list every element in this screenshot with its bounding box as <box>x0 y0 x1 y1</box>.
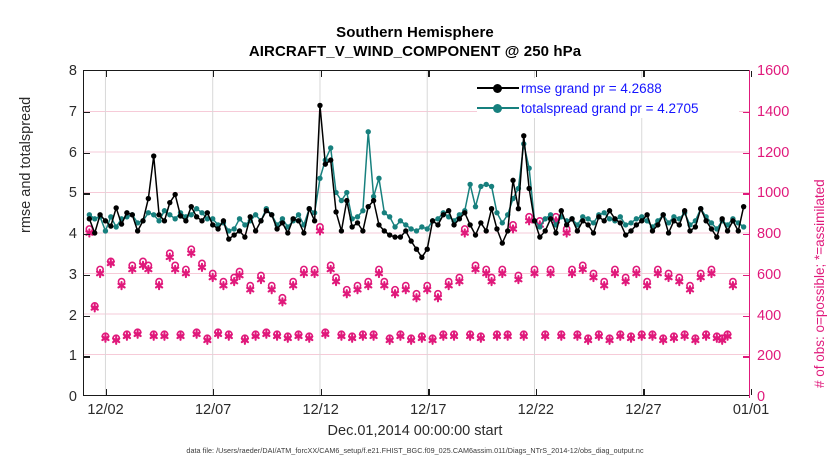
y-axis-right-tick-label: 1000 <box>757 185 789 201</box>
y-axis-left-tick-mark <box>84 112 90 113</box>
y-axis-left-tick-label: 7 <box>69 104 77 120</box>
y-axis-left-tick-mark <box>84 153 90 154</box>
y-axis-left-tick-label: 8 <box>69 63 77 79</box>
y-axis-left-tick-label: 0 <box>69 389 77 405</box>
y-axis-left-tick-label: 5 <box>69 185 77 201</box>
y-axis-right-tick-label: 600 <box>757 267 781 283</box>
y-axis-right-tick-label: 800 <box>757 226 781 242</box>
x-axis-tick-mark <box>213 71 214 77</box>
y-axis-right-tick-label: 400 <box>757 308 781 324</box>
y-axis-left-tick-label: 2 <box>69 308 77 324</box>
y-axis-left-label: rmse and totalspread <box>18 97 34 233</box>
x-axis-tick-mark <box>106 71 107 77</box>
legend-entry-totalspread: totalspread grand pr = 4.2705 <box>477 98 699 118</box>
chart-legend[interactable]: rmse grand pr = 4.2688 totalspread grand… <box>477 78 739 118</box>
y-axis-right-tick-label: 1400 <box>757 104 789 120</box>
x-axis-tick-label: 12/07 <box>195 402 231 418</box>
chart-title-region: Southern Hemisphere <box>0 24 830 42</box>
y-axis-right-spine <box>749 70 750 399</box>
y-axis-left-tick-label: 4 <box>69 226 77 242</box>
y-axis-left-tick-label: 1 <box>69 348 77 364</box>
x-axis-tick-mark <box>751 71 752 77</box>
plot-area: 012345678 02004006008001000120014001600 … <box>83 70 750 396</box>
x-axis-tick-label: 12/22 <box>518 402 554 418</box>
x-axis-tick-label: 01/01 <box>733 402 769 418</box>
data-file-caption: data file: /Users/raeder/DAI/ATM_forcXX/… <box>0 446 830 455</box>
x-axis-tick-label: 12/12 <box>303 402 339 418</box>
y-axis-right-tick-label: 1200 <box>757 145 789 161</box>
y-axis-left-tick-mark <box>84 356 90 357</box>
x-axis-tick-mark <box>213 389 214 395</box>
x-axis-tick-label: 12/27 <box>625 402 661 418</box>
x-axis-label: Dec.01,2014 00:00:00 start <box>0 423 830 439</box>
y-axis-left-tick-mark <box>84 193 90 194</box>
x-axis-tick-mark <box>643 389 644 395</box>
x-axis-tick-mark <box>428 71 429 77</box>
x-axis-tick-mark <box>536 389 537 395</box>
y-axis-left-tick-mark <box>84 234 90 235</box>
legend-label-totalspread: totalspread grand pr = 4.2705 <box>521 101 699 116</box>
y-axis-right-tick-label: 200 <box>757 348 781 364</box>
x-axis-tick-mark <box>106 389 107 395</box>
chart-page: Southern Hemisphere AIRCRAFT_V_WIND_COMP… <box>0 0 830 470</box>
x-axis-tick-mark <box>751 389 752 395</box>
y-axis-right-label: # of obs: o=possible; *=assimilated <box>812 179 827 388</box>
x-axis-tick-mark <box>321 71 322 77</box>
chart-title-variable: AIRCRAFT_V_WIND_COMPONENT @ 250 hPa <box>0 42 830 61</box>
y-axis-left-tick-label: 3 <box>69 267 77 283</box>
legend-marker-totalspread-icon <box>477 101 519 115</box>
legend-marker-rmse-icon <box>477 81 519 95</box>
legend-entry-rmse: rmse grand pr = 4.2688 <box>477 78 662 98</box>
legend-label-rmse: rmse grand pr = 4.2688 <box>521 81 662 96</box>
y-axis-left-tick-label: 6 <box>69 145 77 161</box>
y-axis-left-tick-mark <box>84 275 90 276</box>
y-axis-left-tick-mark <box>84 316 90 317</box>
chart-title-block: Southern Hemisphere AIRCRAFT_V_WIND_COMP… <box>0 24 830 61</box>
x-axis-tick-label: 12/17 <box>410 402 446 418</box>
y-axis-right-tick-label: 1600 <box>757 63 789 79</box>
data-series-layer <box>84 71 749 395</box>
x-axis-tick-mark <box>321 389 322 395</box>
x-axis-tick-mark <box>643 71 644 77</box>
x-axis-tick-label: 12/02 <box>87 402 123 418</box>
x-axis-tick-mark <box>536 71 537 77</box>
x-axis-tick-mark <box>428 389 429 395</box>
